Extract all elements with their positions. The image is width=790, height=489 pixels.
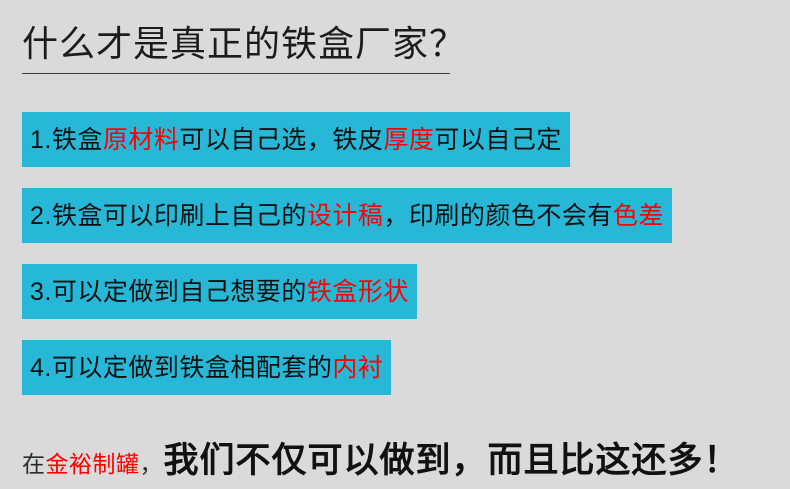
feature-bar-list: 1.铁盒原材料可以自己选，铁皮厚度可以自己定 2.铁盒可以印刷上自己的设计稿，印… [22, 112, 672, 395]
feature-bar-2-index: 2. [30, 202, 52, 230]
footer-headline: 我们不仅可以做到，而且比这还多！ [164, 432, 740, 483]
feature-bar-1-seg-3-highlight: 厚度 [383, 126, 434, 154]
feature-bar-1-seg-4: 可以自己定 [434, 126, 562, 154]
feature-bar-2-seg-0: 铁盒可以印刷上自己的 [52, 202, 307, 230]
feature-bar-4-index: 4. [30, 354, 52, 382]
feature-bar-4-seg-0: 可以定做到铁盒相配套的 [52, 354, 333, 382]
title-block: 什么才是真正的铁盒厂家？ [22, 22, 452, 74]
footer-statement: 在金裕制罐，我们不仅可以做到，而且比这还多！ [22, 432, 740, 483]
feature-bar-2: 2.铁盒可以印刷上自己的设计稿，印刷的颜色不会有色差 [22, 188, 672, 243]
feature-bar-2-seg-3-highlight: 色差 [613, 202, 664, 230]
page-title: 什么才是真正的铁盒厂家？ [22, 22, 452, 66]
promo-page: 什么才是真正的铁盒厂家？ 1.铁盒原材料可以自己选，铁皮厚度可以自己定 2.铁盒… [0, 0, 790, 489]
feature-bar-3-seg-1-highlight: 铁盒形状 [307, 278, 409, 306]
feature-bar-1-seg-2: 可以自己选，铁皮 [179, 126, 383, 154]
title-divider [22, 73, 450, 74]
feature-bar-1-seg-1-highlight: 原材料 [103, 126, 180, 154]
feature-bar-4: 4.可以定做到铁盒相配套的内衬 [22, 340, 391, 395]
feature-bar-2-seg-1-highlight: 设计稿 [307, 202, 384, 230]
feature-bar-1: 1.铁盒原材料可以自己选，铁皮厚度可以自己定 [22, 112, 570, 167]
footer-prefix: 在 [22, 445, 46, 479]
feature-bar-1-text: 1.铁盒原材料可以自己选，铁皮厚度可以自己定 [30, 125, 562, 155]
feature-bar-1-seg-0: 铁盒 [52, 126, 103, 154]
feature-bar-4-seg-1-highlight: 内衬 [332, 354, 383, 382]
feature-bar-2-text: 2.铁盒可以印刷上自己的设计稿，印刷的颜色不会有色差 [30, 201, 664, 231]
feature-bar-3-text: 3.可以定做到自己想要的铁盒形状 [30, 277, 409, 307]
footer-brand-name: 金裕制罐 [46, 445, 140, 479]
footer-comma: ， [140, 445, 163, 479]
feature-bar-4-text: 4.可以定做到铁盒相配套的内衬 [30, 353, 383, 383]
feature-bar-3: 3.可以定做到自己想要的铁盒形状 [22, 264, 417, 319]
feature-bar-3-seg-0: 可以定做到自己想要的 [52, 278, 307, 306]
feature-bar-2-seg-2: ，印刷的颜色不会有 [383, 202, 613, 230]
feature-bar-1-index: 1. [30, 126, 52, 154]
feature-bar-3-index: 3. [30, 278, 52, 306]
